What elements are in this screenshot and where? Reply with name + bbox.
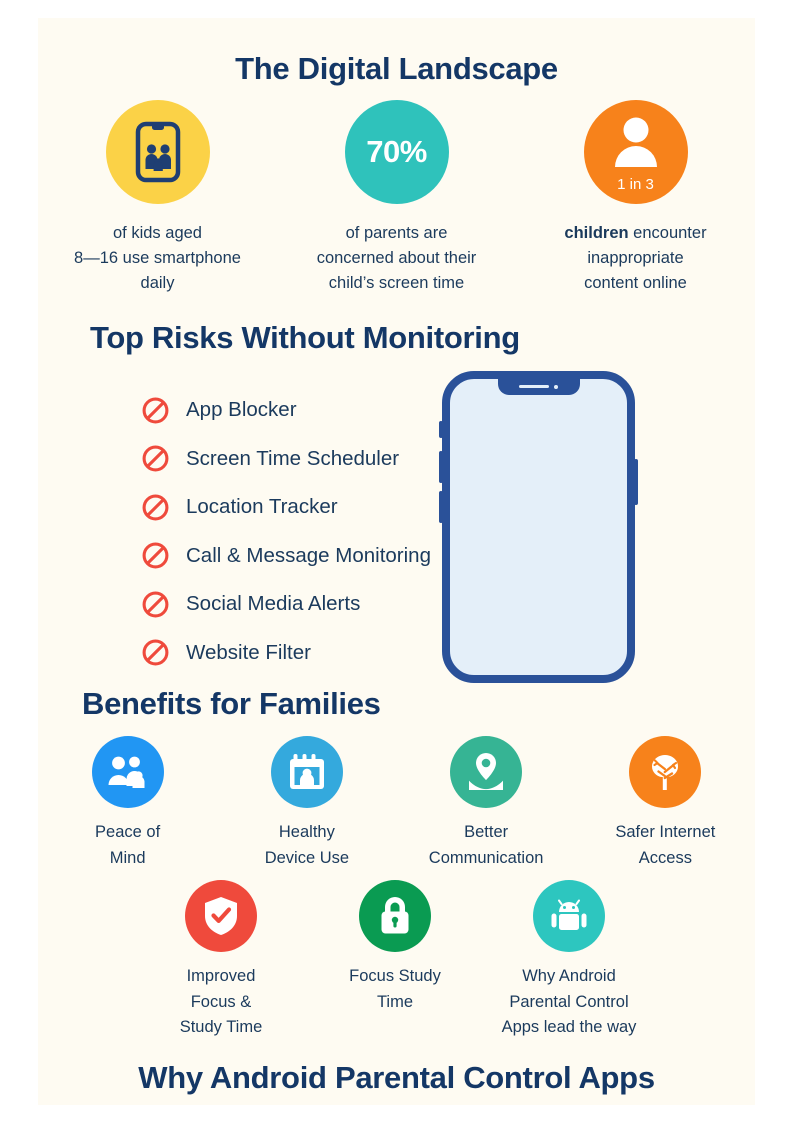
benefit-label-line-1: Why Android bbox=[502, 964, 637, 990]
android-robot-icon bbox=[548, 899, 590, 933]
benefit-circle-orange bbox=[629, 736, 701, 808]
phone-speaker-icon bbox=[519, 385, 549, 389]
page-title-digital-landscape: The Digital Landscape bbox=[38, 51, 755, 87]
phone-mute-button bbox=[439, 421, 443, 438]
benefits-row-1: Peace of Mind bbox=[38, 736, 755, 871]
prohibition-icon bbox=[142, 397, 169, 424]
phone-power-button bbox=[634, 459, 638, 505]
benefit-label-line-1: Focus Study bbox=[349, 964, 441, 990]
benefit-circle-blue bbox=[92, 736, 164, 808]
prohibition-icon bbox=[142, 542, 169, 569]
stat-caption-line-2: concerned about their bbox=[317, 246, 477, 271]
risk-item-label: Location Tracker bbox=[186, 495, 338, 519]
benefit-item-why-android: Why Android Parental Control Apps lead t… bbox=[493, 880, 645, 1041]
section-title-benefits: Benefits for Families bbox=[52, 686, 769, 722]
benefit-label-line-2: Communication bbox=[429, 846, 544, 872]
benefit-label-line-1: Peace of bbox=[95, 820, 160, 846]
prohibition-icon bbox=[142, 591, 169, 618]
stat-item-smartphone-usage: of kids aged 8—16 use smartphone daily bbox=[55, 100, 260, 295]
benefits-row-2: Improved Focus & Study Time Focus Study bbox=[145, 880, 645, 1041]
benefit-label-healthy-device-use: Healthy Device Use bbox=[265, 820, 349, 871]
stat-caption-line-1: children encounter bbox=[564, 221, 706, 246]
benefit-circle-red bbox=[185, 880, 257, 952]
benefit-label-line-2: Focus & bbox=[180, 990, 263, 1016]
phone-volume-down-button bbox=[439, 491, 443, 523]
brain-tree-icon bbox=[645, 752, 685, 792]
prohibition-icon bbox=[142, 494, 169, 521]
family-group-icon bbox=[107, 755, 149, 789]
benefit-label-line-2: Mind bbox=[95, 846, 160, 872]
phone-camera-icon bbox=[554, 385, 558, 389]
stat-item-inappropriate-content: 1 in 3 children encounter inappropriate … bbox=[533, 100, 738, 295]
stat-value-ratio: 1 in 3 bbox=[584, 176, 688, 193]
stat-caption-parent-concern: of parents are concerned about their chi… bbox=[317, 221, 477, 295]
benefit-circle-green bbox=[359, 880, 431, 952]
risk-item-label: App Blocker bbox=[186, 398, 297, 422]
benefit-item-peace-of-mind: Peace of Mind bbox=[52, 736, 204, 871]
benefit-circle-android-teal bbox=[533, 880, 605, 952]
benefit-label-line-1: Better bbox=[429, 820, 544, 846]
calendar-person-icon bbox=[288, 752, 326, 792]
benefit-label-line-2: Device Use bbox=[265, 846, 349, 872]
benefit-item-focus-study-time: Focus Study Time bbox=[319, 880, 471, 1015]
benefit-label-line-3: Study Time bbox=[180, 1015, 263, 1041]
benefit-label-peace-of-mind: Peace of Mind bbox=[95, 820, 160, 871]
stat-caption-smartphone-usage: of kids aged 8—16 use smartphone daily bbox=[74, 221, 241, 295]
risk-item-label: Screen Time Scheduler bbox=[186, 447, 399, 471]
footer-title-why-android: Why Android Parental Control Apps bbox=[38, 1060, 755, 1096]
stat-caption-line-3: child’s screen time bbox=[317, 271, 477, 296]
phone-notch bbox=[498, 378, 580, 395]
benefit-label-line-3: Apps lead the way bbox=[502, 1015, 637, 1041]
benefit-item-safer-internet-access: Safer Internet Access bbox=[589, 736, 741, 871]
benefit-circle-green-teal bbox=[450, 736, 522, 808]
stat-circle-teal: 70% bbox=[345, 100, 449, 204]
benefit-label-line-1: Safer Internet bbox=[615, 820, 715, 846]
benefit-item-improved-focus: Improved Focus & Study Time bbox=[145, 880, 297, 1041]
smartphone-mockup bbox=[442, 371, 635, 683]
benefit-label-line-2: Parental Control bbox=[502, 990, 637, 1016]
benefit-label-line-1: Improved bbox=[180, 964, 263, 990]
prohibition-icon bbox=[142, 639, 169, 666]
risk-item-label: Call & Message Monitoring bbox=[186, 544, 431, 568]
location-pin-hand-icon bbox=[466, 751, 506, 793]
stats-row: of kids aged 8—16 use smartphone daily 7… bbox=[38, 100, 755, 295]
stat-caption-line-3: daily bbox=[74, 271, 241, 296]
benefit-item-healthy-device-use: Healthy Device Use bbox=[231, 736, 383, 871]
stat-caption-line-3: content online bbox=[564, 271, 706, 296]
section-title-top-risks: Top Risks Without Monitoring bbox=[52, 320, 769, 356]
stat-caption-line-1-rest: encounter bbox=[629, 224, 707, 242]
benefit-label-line-2: Access bbox=[615, 846, 715, 872]
benefit-label-safer-internet-access: Safer Internet Access bbox=[615, 820, 715, 871]
benefit-label-line-2: Time bbox=[349, 990, 441, 1016]
stat-caption-line-2: 8—16 use smartphone bbox=[74, 246, 241, 271]
stat-caption-line-1: of kids aged bbox=[74, 221, 241, 246]
benefit-label-improved-focus: Improved Focus & Study Time bbox=[180, 964, 263, 1041]
stat-circle-yellow bbox=[106, 100, 210, 204]
benefit-label-focus-study-time: Focus Study Time bbox=[349, 964, 441, 1015]
benefit-item-better-communication: Better Communication bbox=[410, 736, 562, 871]
stat-caption-line-2: inappropriate bbox=[564, 246, 706, 271]
risk-item-label: Social Media Alerts bbox=[186, 592, 360, 616]
stat-caption-bold: children bbox=[564, 224, 628, 242]
benefit-label-line-1: Healthy bbox=[265, 820, 349, 846]
phone-volume-up-button bbox=[439, 451, 443, 483]
benefit-label-why-android: Why Android Parental Control Apps lead t… bbox=[502, 964, 637, 1041]
shield-check-icon bbox=[202, 895, 240, 937]
stat-value-percent: 70% bbox=[366, 134, 427, 170]
stat-item-parent-concern: 70% of parents are concerned about their… bbox=[294, 100, 499, 295]
stat-caption-inappropriate-content: children encounter inappropriate content… bbox=[564, 221, 706, 295]
prohibition-icon bbox=[142, 445, 169, 472]
stat-circle-orange: 1 in 3 bbox=[584, 100, 688, 204]
stat-caption-line-1: of parents are bbox=[317, 221, 477, 246]
lock-icon bbox=[377, 895, 413, 937]
smartphone-family-icon bbox=[135, 121, 181, 183]
person-icon bbox=[609, 115, 663, 167]
risk-item-label: Website Filter bbox=[186, 641, 311, 665]
benefit-label-better-communication: Better Communication bbox=[429, 820, 544, 871]
benefit-circle-light-blue bbox=[271, 736, 343, 808]
infographic-card: The Digital Landscape bbox=[38, 18, 755, 1105]
